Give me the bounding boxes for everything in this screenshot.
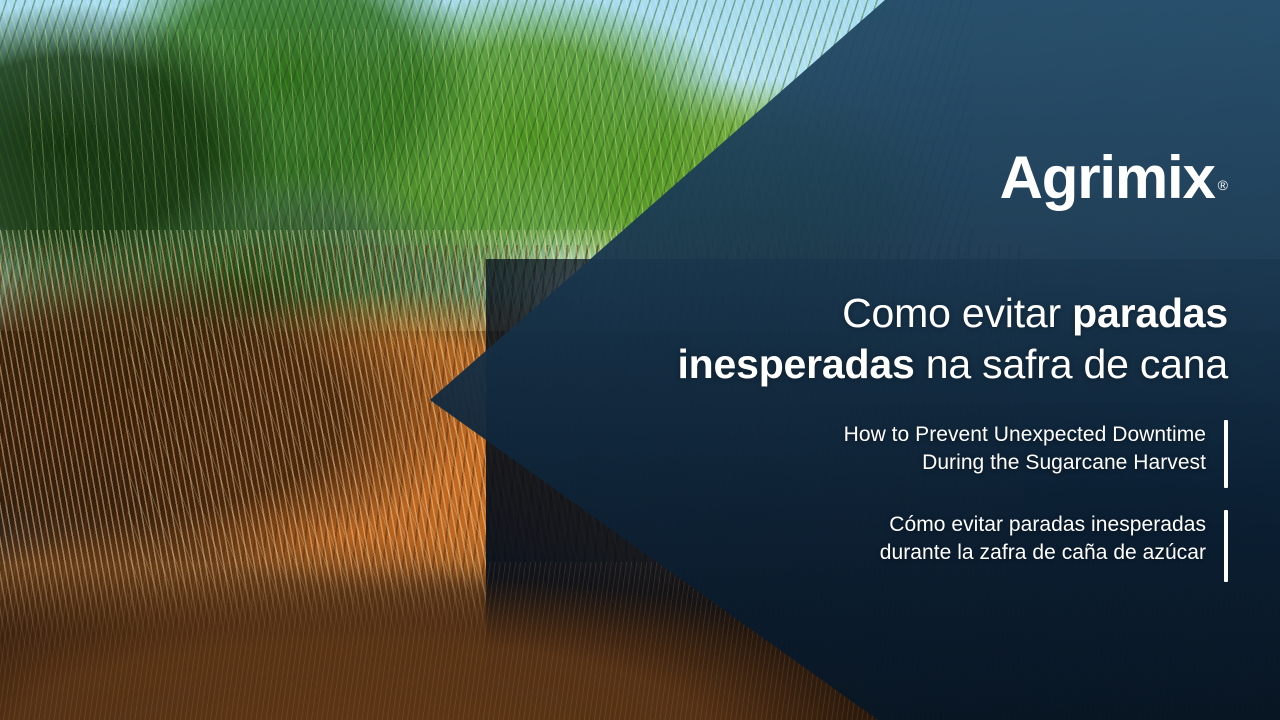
subtitle-english-text: How to Prevent Unexpected Downtime Durin… [844, 420, 1206, 488]
logo-wordmark: Agrimix [1000, 148, 1215, 208]
subtitle-spanish-line2: durante la zafra de caña de azúcar [880, 541, 1206, 564]
headline-line1-plain: Como evitar [842, 290, 1072, 336]
subtitle-spanish-line1: Cómo evitar paradas inesperadas [889, 513, 1206, 536]
headline-line2-bold: inesperadas [677, 341, 914, 387]
marketing-banner: Agrimix ® Como evitar paradasinesperadas… [0, 0, 1280, 720]
subtitle-spanish-text: Cómo evitar paradas inesperadas durante … [880, 510, 1206, 582]
subtitle-spanish-accent-rule [1224, 510, 1228, 582]
registered-trademark-icon: ® [1218, 178, 1228, 192]
subtitle-spanish: Cómo evitar paradas inesperadas durante … [880, 510, 1228, 582]
headline-title: Como evitar paradasinesperadas na safra … [468, 288, 1228, 390]
banner-content: Agrimix ® Como evitar paradasinesperadas… [0, 0, 1280, 720]
subtitle-english-line2: During the Sugarcane Harvest [922, 451, 1206, 474]
subtitle-english-line1: How to Prevent Unexpected Downtime [844, 423, 1206, 446]
subtitle-english: How to Prevent Unexpected Downtime Durin… [844, 420, 1228, 488]
agrimix-logo: Agrimix ® [1000, 148, 1228, 208]
headline-line1-bold: paradas [1072, 290, 1228, 336]
subtitle-english-accent-rule [1224, 420, 1228, 488]
headline-line2-plain: na safra de cana [915, 341, 1228, 387]
